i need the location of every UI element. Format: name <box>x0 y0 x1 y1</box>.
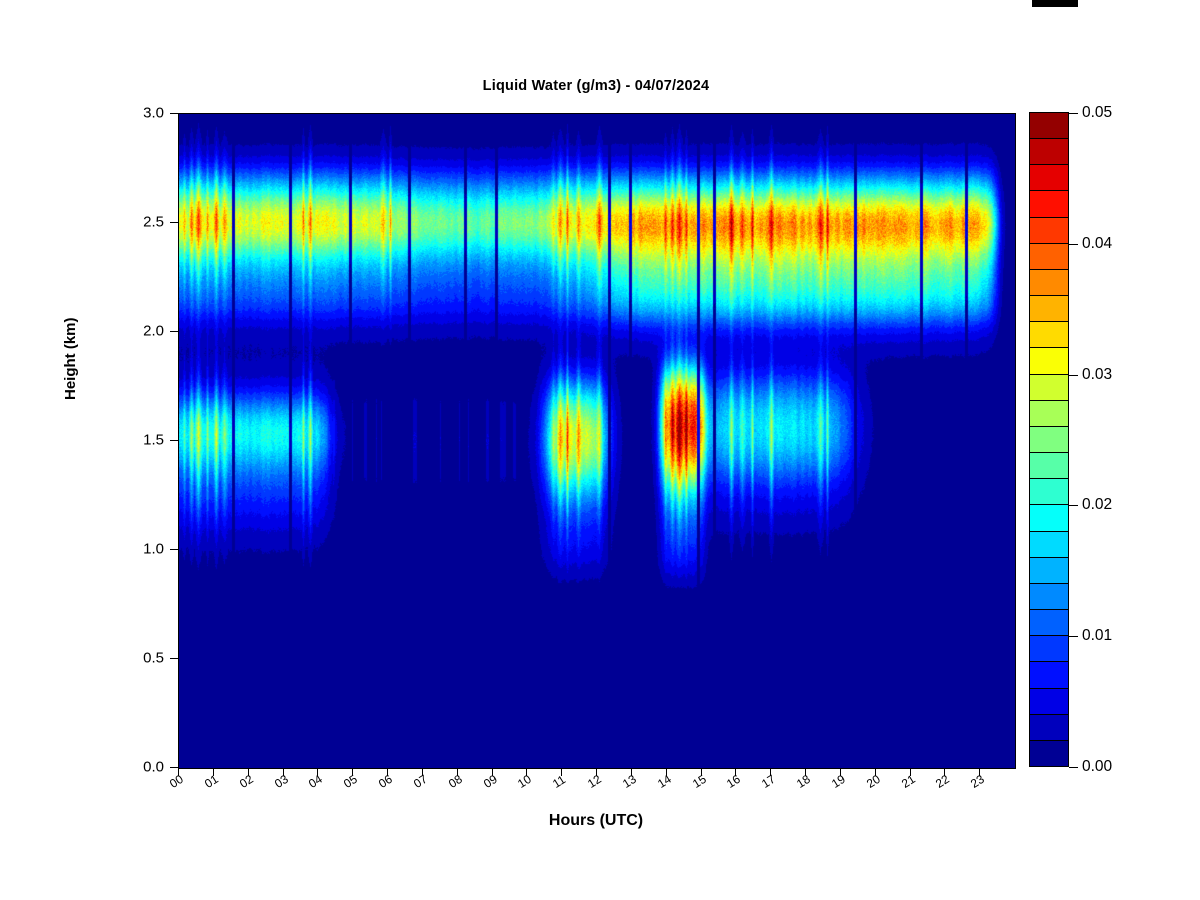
x-tick-label: 16 <box>724 772 743 791</box>
colorbar-swatch <box>1029 164 1069 191</box>
heatmap-canvas <box>179 114 1015 768</box>
x-tick-label: 23 <box>968 772 987 791</box>
y-tick-label: 2.0 <box>143 323 164 340</box>
x-tick-label: 21 <box>899 772 918 791</box>
colorbar-swatch <box>1029 740 1069 767</box>
y-axis: 0.00.51.01.52.02.53.0 <box>0 0 178 900</box>
colorbar-swatch <box>1029 243 1069 270</box>
colorbar-tick <box>1069 505 1078 506</box>
colorbar-swatch <box>1029 400 1069 427</box>
x-tick-label: 06 <box>376 772 395 791</box>
x-tick-label: 01 <box>202 772 221 791</box>
x-tick-label: 14 <box>655 772 674 791</box>
colorbar-swatch <box>1029 504 1069 531</box>
colorbar-tick-label: 0.04 <box>1082 235 1112 253</box>
colorbar-swatch <box>1029 478 1069 505</box>
colorbar-swatch <box>1029 321 1069 348</box>
colorbar-swatch <box>1029 295 1069 322</box>
colorbar-swatch <box>1029 190 1069 217</box>
x-tick-label: 09 <box>481 772 500 791</box>
chart-title: Liquid Water (g/m3) - 04/07/2024 <box>178 78 1014 94</box>
colorbar-swatch <box>1029 217 1069 244</box>
top-marker-bar <box>1032 0 1078 7</box>
y-tick-label: 1.0 <box>143 541 164 558</box>
x-tick-label: 19 <box>829 772 848 791</box>
colorbar <box>1029 113 1069 767</box>
colorbar-swatch <box>1029 583 1069 610</box>
colorbar-swatch <box>1029 531 1069 558</box>
colorbar-swatch <box>1029 635 1069 662</box>
y-axis-title: Height (km) <box>62 318 79 401</box>
colorbar-tick <box>1069 244 1078 245</box>
y-tick-label: 3.0 <box>143 105 164 122</box>
x-tick-label: 05 <box>341 772 360 791</box>
x-tick-label: 20 <box>864 772 883 791</box>
colorbar-tick-label: 0.01 <box>1082 627 1112 645</box>
colorbar-tick-label: 0.02 <box>1082 496 1112 514</box>
colorbar-tick-label: 0.00 <box>1082 758 1112 776</box>
colorbar-swatch <box>1029 609 1069 636</box>
x-tick-label: 17 <box>759 772 778 791</box>
colorbar-swatch <box>1029 688 1069 715</box>
colorbar-swatch <box>1029 714 1069 741</box>
y-tick <box>170 331 178 332</box>
x-tick-label: 11 <box>550 772 568 790</box>
colorbar-swatch <box>1029 347 1069 374</box>
colorbar-swatch <box>1029 661 1069 688</box>
colorbar-swatch <box>1029 426 1069 453</box>
y-tick <box>170 222 178 223</box>
colorbar-tick <box>1069 767 1078 768</box>
y-tick <box>170 549 178 550</box>
heatmap-plot-area <box>178 113 1016 769</box>
x-tick-label: 07 <box>411 772 430 791</box>
x-tick-label: 02 <box>237 772 256 791</box>
y-tick-label: 1.5 <box>143 432 164 449</box>
colorbar-tick-label: 0.05 <box>1082 104 1112 122</box>
x-tick-label: 18 <box>794 772 813 791</box>
colorbar-tick <box>1069 636 1078 637</box>
colorbar-swatch <box>1029 138 1069 165</box>
x-tick-label: 22 <box>933 772 952 791</box>
colorbar-tick <box>1069 113 1078 114</box>
colorbar-swatch <box>1029 269 1069 296</box>
colorbar-swatch <box>1029 374 1069 401</box>
x-tick-label: 15 <box>690 772 709 791</box>
y-tick <box>170 658 178 659</box>
colorbar-swatch <box>1029 557 1069 584</box>
y-tick <box>170 113 178 114</box>
y-tick-label: 2.5 <box>143 214 164 231</box>
y-tick-label: 0.5 <box>143 650 164 667</box>
x-tick-label: 13 <box>620 772 639 791</box>
x-tick-label: 08 <box>446 772 465 791</box>
x-tick-label: 04 <box>306 772 325 791</box>
x-axis-title: Hours (UTC) <box>178 812 1014 830</box>
x-tick-label: 12 <box>585 772 604 791</box>
x-tick-label: 03 <box>272 772 291 791</box>
colorbar-swatch <box>1029 112 1069 139</box>
y-tick <box>170 440 178 441</box>
colorbar-swatch <box>1029 452 1069 479</box>
x-tick-label: 10 <box>515 772 534 791</box>
y-tick-label: 0.0 <box>143 759 164 776</box>
figure-root: Liquid Water (g/m3) - 04/07/2024 0.00.51… <box>0 0 1200 900</box>
colorbar-tick <box>1069 375 1078 376</box>
colorbar-tick-label: 0.03 <box>1082 366 1112 384</box>
y-tick <box>170 767 178 768</box>
